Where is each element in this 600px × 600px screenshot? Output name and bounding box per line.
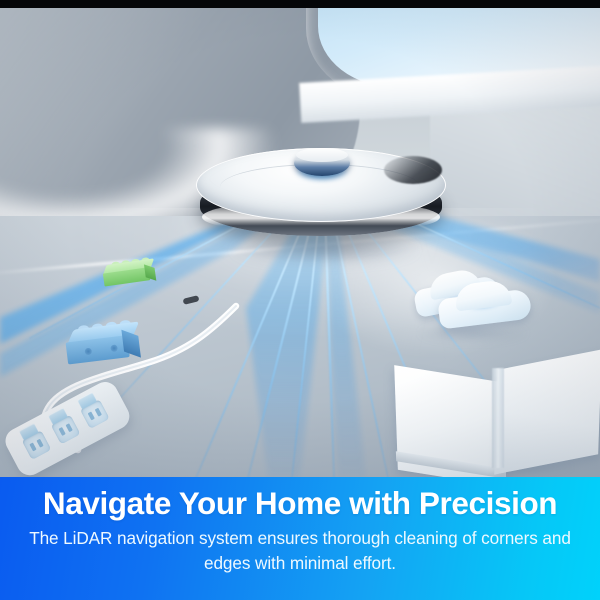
robot-bumper — [384, 156, 442, 184]
open-book — [396, 364, 596, 478]
lidar-cap — [296, 148, 348, 162]
robot-vacuum — [196, 148, 446, 258]
slippers — [404, 270, 536, 340]
caption-subtitle: The LiDAR navigation system ensures thor… — [14, 526, 586, 576]
caption-banner: Navigate Your Home with Precision The Li… — [0, 477, 600, 600]
product-marketing-image: Navigate Your Home with Precision The Li… — [0, 0, 600, 600]
book-spine — [492, 368, 504, 468]
caption-title: Navigate Your Home with Precision — [0, 483, 600, 523]
letterbox-bar-top — [0, 0, 600, 8]
product-scene — [0, 8, 600, 478]
book-page-right — [494, 349, 600, 474]
